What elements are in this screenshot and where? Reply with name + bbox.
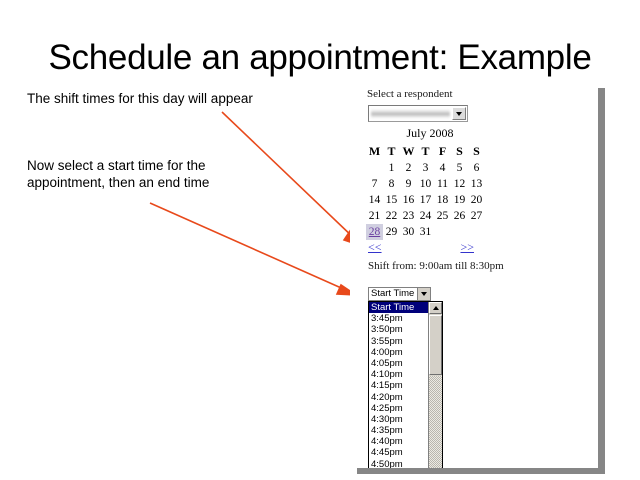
calendar-day[interactable]: 14 (366, 192, 383, 208)
calendar-weekday: W (400, 143, 417, 160)
page-title: Schedule an appointment: Example (0, 38, 640, 78)
start-time-option[interactable]: 4:50pm (369, 459, 428, 468)
start-time-option[interactable]: 4:45pm (369, 447, 428, 458)
calendar-day-selected-label: 28 (369, 226, 381, 238)
calendar-weekday: S (468, 143, 485, 160)
start-time-listbox[interactable]: Start Time 3:45pm 3:50pm 3:55pm 4:00pm 4… (368, 301, 443, 468)
annotation-shift-times: The shift times for this day will appear (27, 90, 257, 107)
calendar-prev-month-link[interactable]: << (368, 240, 382, 255)
calendar-day[interactable]: 17 (417, 192, 434, 208)
start-time-option[interactable]: 4:05pm (369, 358, 428, 369)
calendar-day[interactable]: 7 (366, 176, 383, 192)
calendar-day[interactable]: 18 (434, 192, 451, 208)
calendar-day[interactable]: 11 (434, 176, 451, 192)
calendar-navigation: << >> (368, 240, 474, 255)
calendar-month-year: July 2008 (366, 126, 486, 143)
calendar-widget[interactable]: July 2008 M T W T F S S 1 2 3 (366, 126, 486, 240)
calendar-day[interactable]: 22 (383, 208, 400, 224)
start-time-option-list: Start Time 3:45pm 3:50pm 3:55pm 4:00pm 4… (369, 302, 428, 468)
calendar-day[interactable]: 10 (417, 176, 434, 192)
calendar-next-month-link[interactable]: >> (460, 240, 474, 255)
calendar-day[interactable]: 26 (451, 208, 468, 224)
calendar-day[interactable]: 30 (400, 224, 417, 240)
calendar-day[interactable]: 5 (451, 160, 468, 176)
scrollbar-track[interactable] (429, 376, 442, 468)
calendar-day[interactable]: 20 (468, 192, 485, 208)
calendar-week-row: 7 8 9 10 11 12 13 (366, 176, 485, 192)
start-time-option[interactable]: 4:30pm (369, 414, 428, 425)
calendar-day[interactable] (451, 224, 468, 240)
calendar-week-row: 14 15 16 17 18 19 20 (366, 192, 485, 208)
screenshot-shadow-bottom (357, 468, 605, 474)
calendar-day[interactable]: 21 (366, 208, 383, 224)
calendar-day[interactable]: 13 (468, 176, 485, 192)
embedded-app-screenshot: Select a respondent July 2008 M T W T F … (350, 82, 598, 468)
calendar-day-selected[interactable]: 28 (366, 224, 383, 240)
start-time-option[interactable]: 3:45pm (369, 313, 428, 324)
start-time-option[interactable]: Start Time (369, 302, 428, 313)
calendar-weekday: T (417, 143, 434, 160)
scrollbar-thumb[interactable] (429, 315, 442, 375)
calendar-day[interactable]: 12 (451, 176, 468, 192)
calendar-day[interactable] (434, 224, 451, 240)
calendar-weekday: T (383, 143, 400, 160)
calendar-day[interactable] (366, 160, 383, 176)
start-time-option[interactable]: 4:15pm (369, 380, 428, 391)
start-time-option[interactable]: 4:40pm (369, 436, 428, 447)
chevron-down-icon[interactable] (417, 288, 430, 300)
screenshot-shadow-right (598, 88, 605, 474)
calendar-day[interactable]: 19 (451, 192, 468, 208)
calendar-day[interactable] (468, 224, 485, 240)
calendar-day[interactable]: 29 (383, 224, 400, 240)
calendar-day[interactable]: 8 (383, 176, 400, 192)
start-time-option[interactable]: 4:10pm (369, 369, 428, 380)
calendar-weekday: M (366, 143, 383, 160)
calendar-day[interactable]: 6 (468, 160, 485, 176)
start-time-selected-value: Start Time (369, 288, 417, 300)
calendar-week-row: 28 29 30 31 (366, 224, 485, 240)
respondent-label: Select a respondent (367, 88, 453, 100)
calendar-week-row: 21 22 23 24 25 26 27 (366, 208, 485, 224)
annotation-select-start: Now select a start time for the appointm… (27, 157, 257, 191)
calendar-weekday: S (451, 143, 468, 160)
calendar-day[interactable]: 31 (417, 224, 434, 240)
calendar-day[interactable]: 23 (400, 208, 417, 224)
calendar-day[interactable]: 25 (434, 208, 451, 224)
shift-hours-text: Shift from: 9:00am till 8:30pm (368, 260, 504, 272)
calendar-day[interactable]: 1 (383, 160, 400, 176)
calendar-day[interactable]: 2 (400, 160, 417, 176)
calendar-day[interactable]: 15 (383, 192, 400, 208)
start-time-option[interactable]: 4:25pm (369, 403, 428, 414)
chevron-down-icon[interactable] (452, 107, 466, 120)
start-time-option[interactable]: 3:50pm (369, 324, 428, 335)
respondent-select[interactable] (368, 105, 468, 122)
calendar-weekday: F (434, 143, 451, 160)
start-time-option[interactable]: 4:35pm (369, 425, 428, 436)
respondent-selected-value (371, 108, 450, 119)
calendar-day[interactable]: 24 (417, 208, 434, 224)
calendar-header-row: M T W T F S S (366, 143, 485, 160)
calendar-day[interactable]: 16 (400, 192, 417, 208)
start-time-option[interactable]: 3:55pm (369, 336, 428, 347)
calendar-day[interactable]: 9 (400, 176, 417, 192)
calendar-week-row: 1 2 3 4 5 6 (366, 160, 485, 176)
calendar-day[interactable]: 3 (417, 160, 434, 176)
arrow-line-select-start (150, 203, 348, 291)
calendar-table: M T W T F S S 1 2 3 4 5 6 (366, 143, 485, 240)
triangle-up-icon[interactable] (429, 302, 442, 314)
start-time-scrollbar[interactable] (428, 302, 442, 468)
start-time-option[interactable]: 4:00pm (369, 347, 428, 358)
calendar-day[interactable]: 27 (468, 208, 485, 224)
start-time-combobox[interactable]: Start Time (368, 287, 431, 301)
start-time-option[interactable]: 4:20pm (369, 392, 428, 403)
calendar-day[interactable]: 4 (434, 160, 451, 176)
